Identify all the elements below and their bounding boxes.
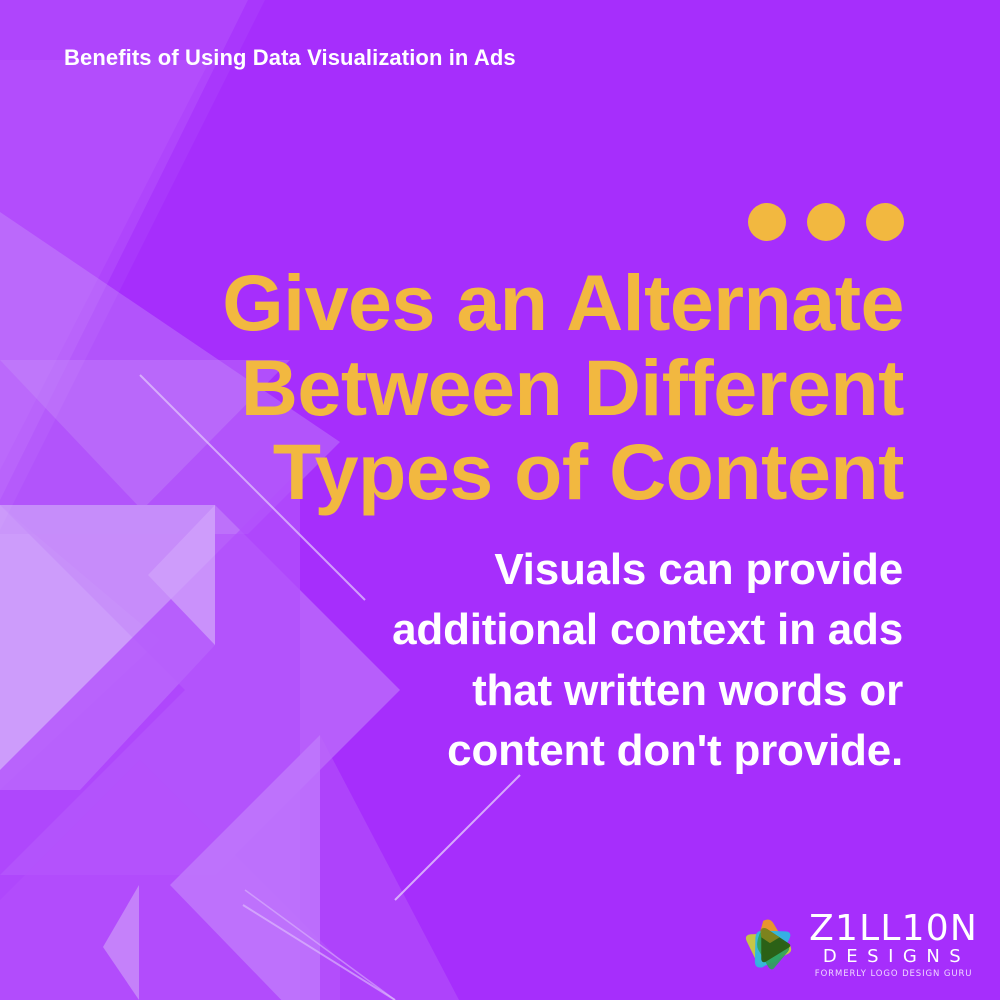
logo-tagline: FORMERLY LOGO DESIGN GURU	[809, 969, 978, 980]
kicker-text: Benefits of Using Data Visualization in …	[64, 45, 516, 71]
body-line: Visuals can provide	[343, 540, 903, 600]
logo-sub-brand: DESIGNS	[809, 946, 978, 969]
bg-left-pale-chevron	[0, 505, 215, 790]
dot-icon	[748, 203, 786, 241]
bg-hairline-2	[243, 905, 395, 1000]
logo-wordmark: Z1LL10N DESIGNS FORMERLY LOGO DESIGN GUR…	[809, 912, 978, 980]
bg-mid-chevron	[0, 505, 400, 875]
headline-line: Between Different	[74, 346, 904, 431]
headline-line: Types of Content	[74, 430, 904, 515]
bg-left-pointing-triangle-large	[170, 735, 320, 1000]
headline: Gives an Alternate Between Different Typ…	[74, 261, 904, 515]
bg-bottom-left-mass	[0, 470, 300, 1000]
decorative-dot-row	[748, 203, 904, 241]
dot-icon	[807, 203, 845, 241]
body-paragraph: Visuals can provide additional context i…	[343, 540, 903, 781]
brand-logo: Z1LL10N DESIGNS FORMERLY LOGO DESIGN GUR…	[738, 912, 978, 980]
headline-line: Gives an Alternate	[74, 261, 904, 346]
poster-canvas: Benefits of Using Data Visualization in …	[0, 0, 1000, 1000]
body-line: additional context in ads	[343, 600, 903, 660]
logo-brand-name: Z1LL10N	[809, 912, 978, 947]
bg-left-pointing-triangle-small	[103, 885, 139, 1000]
body-line: that written words or	[343, 661, 903, 721]
bg-small-accent-triangle	[148, 505, 215, 645]
bg-hairline-4	[395, 775, 520, 900]
body-line: content don't provide.	[343, 721, 903, 781]
bg-left-pale-chevron-inner	[0, 505, 160, 790]
bg-hairline-3	[245, 890, 395, 1000]
bg-bottom-left-mass-2	[0, 760, 340, 1000]
dot-icon	[866, 203, 904, 241]
zillion-play-triangle-mark-icon	[738, 917, 800, 975]
